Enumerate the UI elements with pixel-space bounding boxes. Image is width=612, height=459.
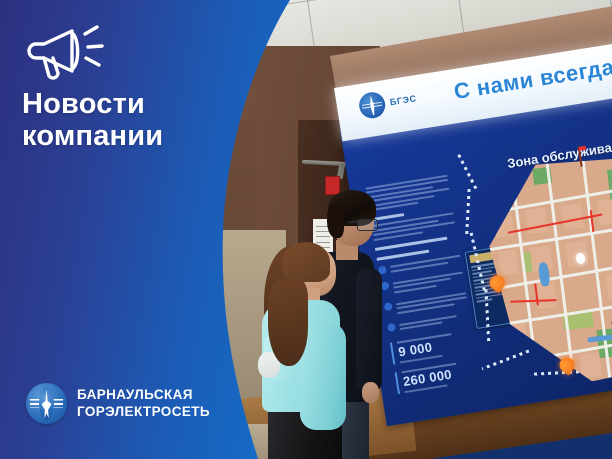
title-line-2: компании <box>22 120 163 152</box>
company-name-line-2: ГОРЭЛЕКТРОСЕТЬ <box>77 404 210 420</box>
boy-glasses-icon <box>357 219 378 231</box>
bges-logo-text: БГЭС <box>389 93 417 107</box>
company-name-line-1: БАРНАУЛЬСКАЯ <box>77 387 210 403</box>
girl-hair-strands <box>268 280 308 366</box>
boy-arm <box>356 268 382 392</box>
board-stat-1: 260 000 <box>395 358 483 393</box>
board-text-column: 9 000 260 000 <box>365 171 483 393</box>
boy-hand <box>362 382 379 403</box>
bges-star-icon <box>357 90 387 120</box>
title-line-1: Новости <box>22 88 163 120</box>
bges-logo: БГЭС <box>357 85 418 120</box>
company-star-logo-icon <box>26 383 67 424</box>
girl-hair-top <box>282 242 330 282</box>
service-area-map <box>480 149 612 392</box>
company-logo: БАРНАУЛЬСКАЯ ГОРЭЛЕКТРОСЕТЬ <box>26 383 210 424</box>
megaphone-icon <box>22 24 108 89</box>
page-title: Новости компании <box>22 88 163 153</box>
news-banner-card: Зона обслуживания Б <box>0 0 612 459</box>
boy-hair-side <box>327 204 344 238</box>
board-stat-0: 9 000 <box>390 329 478 364</box>
company-name: БАРНАУЛЬСКАЯ ГОРЭЛЕКТРОСЕТЬ <box>77 387 210 420</box>
